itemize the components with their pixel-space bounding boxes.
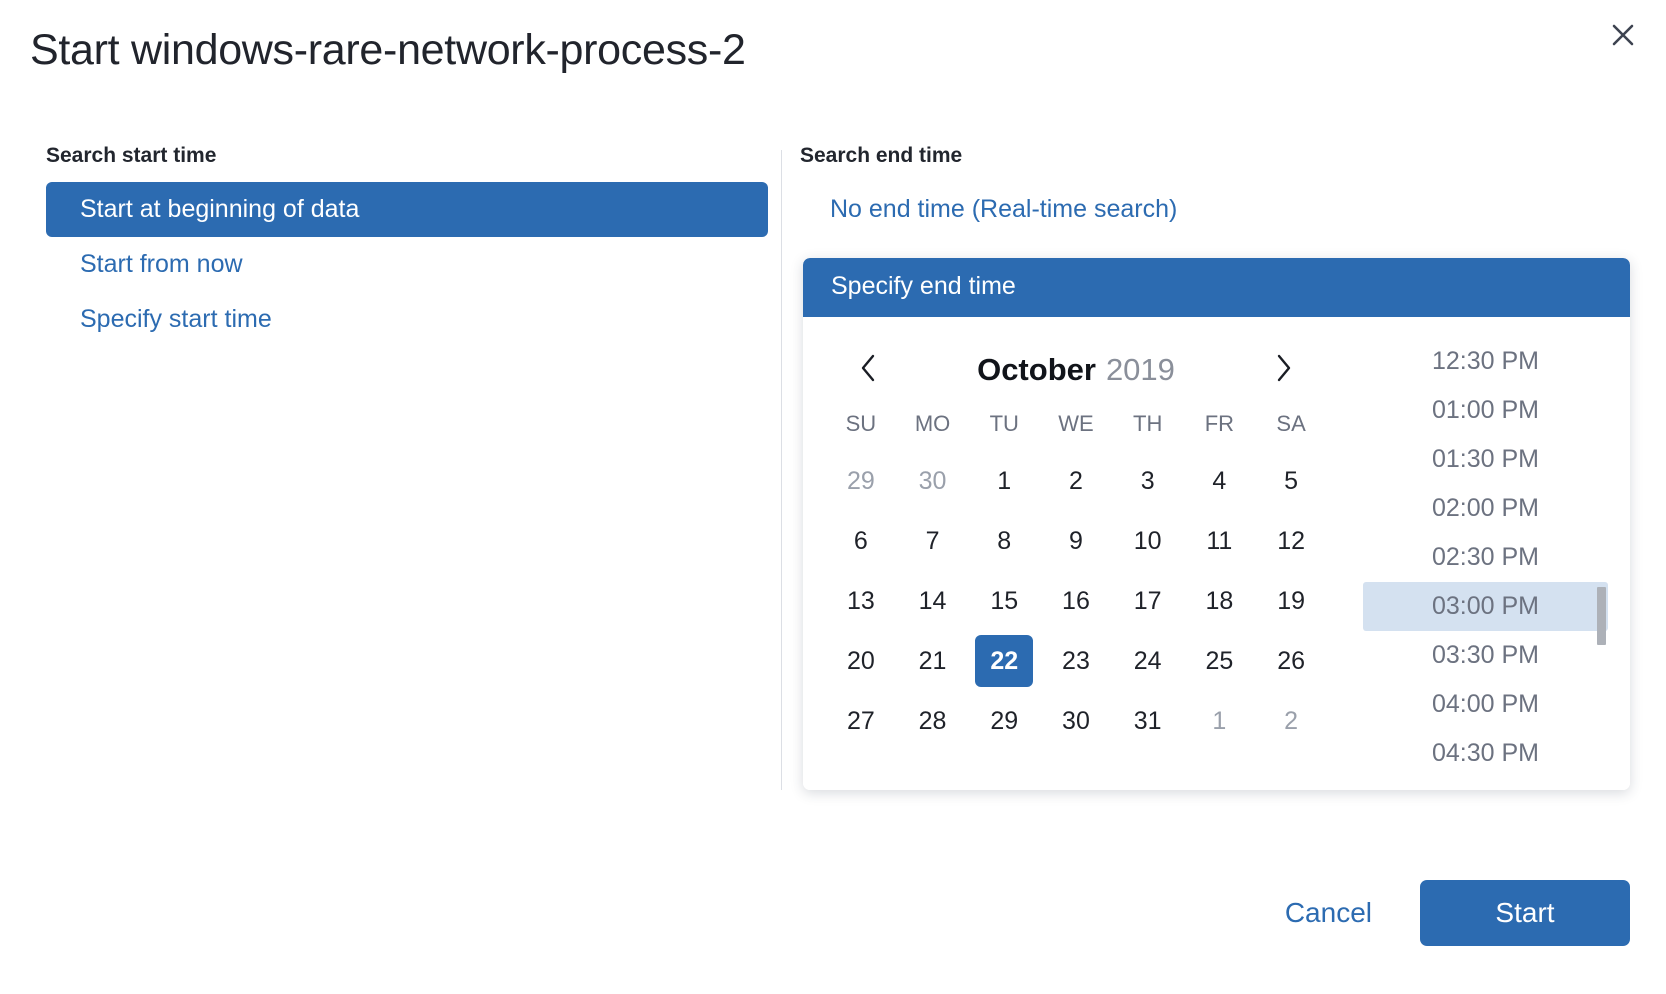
calendar-grid: SU MO TU WE TH FR SA 2930123456789101112… <box>825 405 1327 751</box>
calendar-cell: 6 <box>825 511 897 571</box>
calendar-day[interactable]: 25 <box>1190 635 1248 687</box>
datetime-picker: October2019 SU MO <box>803 317 1630 790</box>
calendar-day[interactable]: 13 <box>832 575 890 627</box>
calendar-week-row: 272829303112 <box>825 691 1327 751</box>
search-end-time-heading: Search end time <box>800 144 1640 168</box>
calendar-day[interactable]: 26 <box>1262 635 1320 687</box>
calendar-day[interactable]: 19 <box>1262 575 1320 627</box>
time-option[interactable]: 01:00 PM <box>1363 386 1608 435</box>
weekday-th: TH <box>1112 405 1184 451</box>
calendar-day[interactable]: 30 <box>1047 695 1105 747</box>
previous-month-button[interactable] <box>851 353 885 387</box>
calendar-day[interactable]: 2 <box>1047 455 1105 507</box>
calendar-day[interactable]: 5 <box>1262 455 1320 507</box>
calendar-header: October2019 <box>825 339 1327 401</box>
calendar-cell: 21 <box>897 631 969 691</box>
calendar-cell: 8 <box>968 511 1040 571</box>
calendar-cell: 12 <box>1255 511 1327 571</box>
start-search-dialog: Start windows-rare-network-process-2 Sea… <box>0 0 1666 994</box>
time-option[interactable]: 02:00 PM <box>1363 484 1608 533</box>
option-specify-end-time[interactable]: Specify end time <box>803 258 1630 317</box>
start-time-option-list: Start at beginning of data Start from no… <box>46 182 770 347</box>
calendar-cell: 10 <box>1112 511 1184 571</box>
option-start-at-beginning-of-data[interactable]: Start at beginning of data <box>46 182 768 237</box>
option-no-end-time[interactable]: No end time (Real-time search) <box>800 182 1320 237</box>
search-end-time-section: Search end time No end time (Real-time s… <box>800 144 1640 237</box>
calendar-day[interactable]: 11 <box>1190 515 1248 567</box>
time-option[interactable]: 03:30 PM <box>1363 631 1608 680</box>
dialog-footer: Cancel Start <box>1281 880 1630 946</box>
column-divider <box>781 150 782 790</box>
calendar-cell: 17 <box>1112 571 1184 631</box>
search-start-time-section: Search start time Start at beginning of … <box>46 144 770 347</box>
calendar-day[interactable]: 29 <box>832 455 890 507</box>
weekday-su: SU <box>825 405 897 451</box>
weekday-sa: SA <box>1255 405 1327 451</box>
calendar-cell: 31 <box>1112 691 1184 751</box>
chevron-left-icon <box>857 352 879 389</box>
time-list-container[interactable]: 12:30 PM01:00 PM01:30 PM02:00 PM02:30 PM… <box>1343 317 1630 790</box>
calendar-week-row: 13141516171819 <box>825 571 1327 631</box>
calendar-cell: 2 <box>1255 691 1327 751</box>
calendar-day[interactable]: 23 <box>1047 635 1105 687</box>
end-time-option-list: No end time (Real-time search) <box>800 182 1640 237</box>
option-start-from-now[interactable]: Start from now <box>46 237 768 292</box>
calendar-day[interactable]: 7 <box>904 515 962 567</box>
time-list-scrollbar[interactable] <box>1597 587 1606 645</box>
specify-end-time-panel: Specify end time October2019 <box>803 258 1630 790</box>
calendar-day[interactable]: 1 <box>1190 695 1248 747</box>
calendar-cell: 15 <box>968 571 1040 631</box>
calendar-day[interactable]: 30 <box>904 455 962 507</box>
calendar-day[interactable]: 28 <box>904 695 962 747</box>
calendar-cell: 26 <box>1255 631 1327 691</box>
calendar-day[interactable]: 15 <box>975 575 1033 627</box>
time-option[interactable]: 04:30 PM <box>1363 729 1608 778</box>
weekday-we: WE <box>1040 405 1112 451</box>
calendar-cell: 29 <box>825 451 897 511</box>
time-option[interactable]: 02:30 PM <box>1363 533 1608 582</box>
calendar-weekday-row: SU MO TU WE TH FR SA <box>825 405 1327 451</box>
cancel-button[interactable]: Cancel <box>1281 889 1376 937</box>
weekday-mo: MO <box>897 405 969 451</box>
calendar-cell: 4 <box>1184 451 1256 511</box>
calendar-cell: 29 <box>968 691 1040 751</box>
close-button[interactable] <box>1600 12 1646 58</box>
time-list: 12:30 PM01:00 PM01:30 PM02:00 PM02:30 PM… <box>1343 337 1630 790</box>
calendar-week-row: 20212223242526 <box>825 631 1327 691</box>
calendar-day[interactable]: 24 <box>1119 635 1177 687</box>
calendar-day[interactable]: 21 <box>904 635 962 687</box>
close-icon <box>1608 20 1638 50</box>
calendar-cell: 7 <box>897 511 969 571</box>
calendar-day[interactable]: 29 <box>975 695 1033 747</box>
calendar-day[interactable]: 20 <box>832 635 890 687</box>
calendar-day[interactable]: 2 <box>1262 695 1320 747</box>
calendar-cell: 22 <box>968 631 1040 691</box>
calendar-cell: 30 <box>897 451 969 511</box>
calendar-week-row: 6789101112 <box>825 511 1327 571</box>
time-option[interactable]: 01:30 PM <box>1363 435 1608 484</box>
calendar-day[interactable]: 18 <box>1190 575 1248 627</box>
calendar-day[interactable]: 16 <box>1047 575 1105 627</box>
calendar-cell: 19 <box>1255 571 1327 631</box>
calendar-cell: 5 <box>1255 451 1327 511</box>
calendar: October2019 SU MO <box>803 317 1343 790</box>
calendar-day[interactable]: 12 <box>1262 515 1320 567</box>
time-option[interactable]: 04:00 PM <box>1363 680 1608 729</box>
calendar-cell: 1 <box>968 451 1040 511</box>
calendar-day[interactable]: 10 <box>1119 515 1177 567</box>
calendar-cell: 1 <box>1184 691 1256 751</box>
start-button[interactable]: Start <box>1420 880 1630 946</box>
chevron-right-icon <box>1273 352 1295 389</box>
calendar-cell: 20 <box>825 631 897 691</box>
calendar-cell: 11 <box>1184 511 1256 571</box>
calendar-cell: 27 <box>825 691 897 751</box>
next-month-button[interactable] <box>1267 353 1301 387</box>
calendar-day[interactable]: 9 <box>1047 515 1105 567</box>
calendar-week-row: 293012345 <box>825 451 1327 511</box>
weekday-tu: TU <box>968 405 1040 451</box>
calendar-cell: 25 <box>1184 631 1256 691</box>
calendar-cell: 24 <box>1112 631 1184 691</box>
calendar-day[interactable]: 3 <box>1119 455 1177 507</box>
calendar-day[interactable]: 4 <box>1190 455 1248 507</box>
calendar-day[interactable]: 31 <box>1119 695 1177 747</box>
calendar-day[interactable]: 1 <box>975 455 1033 507</box>
calendar-cell: 23 <box>1040 631 1112 691</box>
weekday-fr: FR <box>1184 405 1256 451</box>
search-start-time-heading: Search start time <box>46 144 770 168</box>
calendar-cell: 16 <box>1040 571 1112 631</box>
time-option-selected[interactable]: 03:00 PM <box>1363 582 1608 631</box>
calendar-cell: 14 <box>897 571 969 631</box>
calendar-cell: 2 <box>1040 451 1112 511</box>
calendar-cell: 9 <box>1040 511 1112 571</box>
calendar-month-year: October2019 <box>977 352 1175 388</box>
page-title: Start windows-rare-network-process-2 <box>30 26 746 75</box>
calendar-days-body: 2930123456789101112131415161718192021222… <box>825 451 1327 751</box>
calendar-day[interactable]: 6 <box>832 515 890 567</box>
calendar-day[interactable]: 17 <box>1119 575 1177 627</box>
time-option[interactable]: 12:30 PM <box>1363 337 1608 386</box>
calendar-day[interactable]: 8 <box>975 515 1033 567</box>
calendar-day[interactable]: 14 <box>904 575 962 627</box>
calendar-cell: 18 <box>1184 571 1256 631</box>
calendar-cell: 3 <box>1112 451 1184 511</box>
time-option[interactable]: 05:00 PM <box>1363 778 1608 790</box>
calendar-cell: 28 <box>897 691 969 751</box>
calendar-day-selected[interactable]: 22 <box>975 635 1033 687</box>
calendar-cell: 13 <box>825 571 897 631</box>
option-specify-start-time[interactable]: Specify start time <box>46 292 768 347</box>
calendar-day[interactable]: 27 <box>832 695 890 747</box>
calendar-cell: 30 <box>1040 691 1112 751</box>
calendar-year-label: 2019 <box>1106 352 1175 387</box>
calendar-month-label: October <box>977 352 1096 387</box>
